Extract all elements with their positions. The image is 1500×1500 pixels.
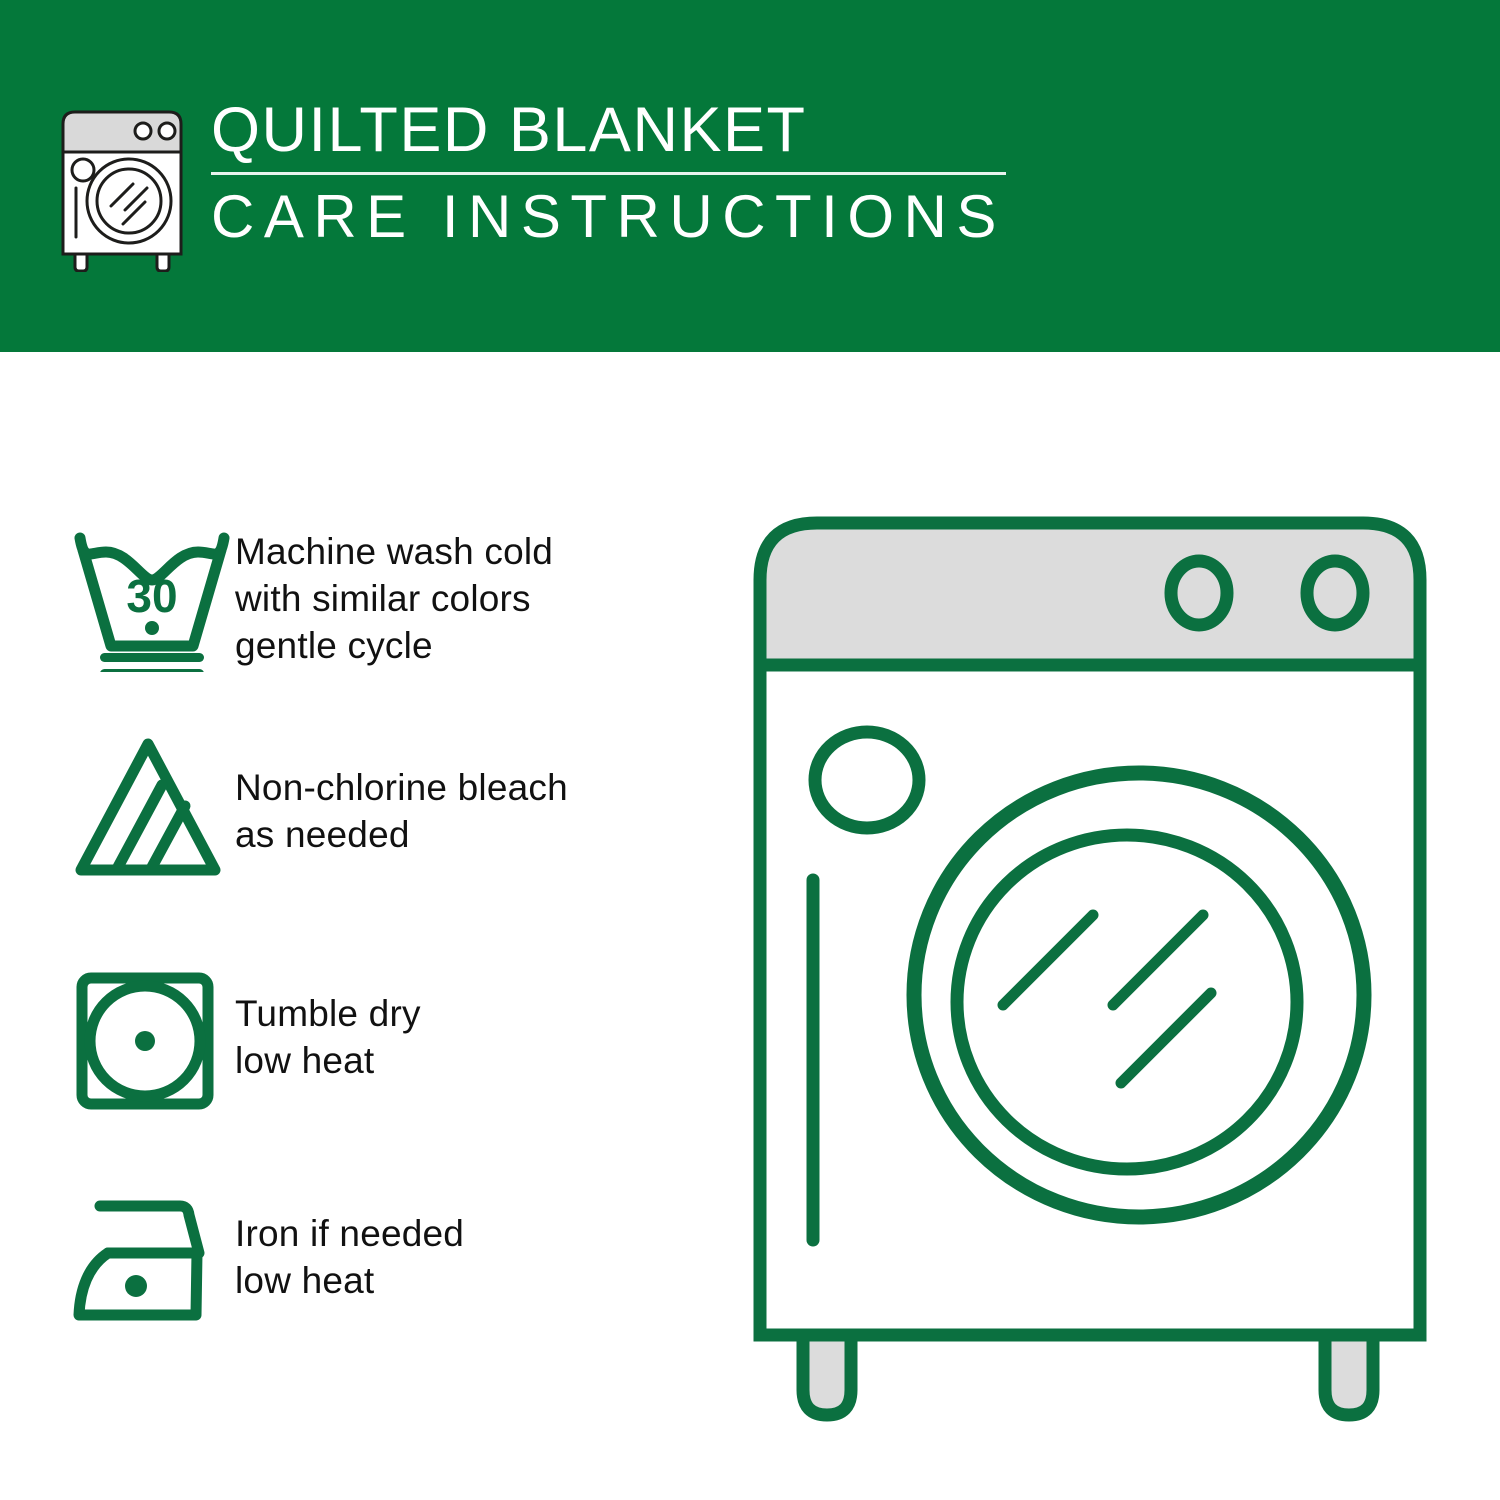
care-row-bleach: Non-chlorine bleach as needed	[70, 730, 730, 880]
title-block: QUILTED BLANKET CARE INSTRUCTIONS	[211, 96, 1006, 250]
care-text-tumble-dry: Tumble dry low heat	[235, 966, 421, 1084]
page-title: QUILTED BLANKET	[211, 96, 1006, 164]
care-text-machine-wash: Machine wash cold with similar colors ge…	[235, 522, 553, 669]
symbol-slot	[70, 966, 235, 1116]
front-load-washing-machine-illustration	[745, 505, 1455, 1435]
symbol-slot	[70, 730, 235, 880]
iron-low-heat-icon	[70, 1190, 235, 1340]
wash-temperature-label: 30	[126, 570, 177, 622]
title-divider	[211, 172, 1006, 175]
knob-left[interactable]	[1171, 561, 1227, 625]
bleach-triangle-icon	[70, 730, 235, 880]
care-line: Machine wash cold with similar colors ge…	[235, 528, 553, 669]
care-instructions-list: 30 Machine wash cold with similar colors…	[0, 352, 740, 1500]
care-line: Tumble dry low heat	[235, 990, 421, 1084]
care-row-tumble-dry: Tumble dry low heat	[70, 966, 730, 1116]
leg-right	[1325, 1335, 1373, 1415]
page-subtitle: CARE INSTRUCTIONS	[211, 184, 1006, 250]
symbol-slot	[70, 1190, 235, 1340]
leg-left	[803, 1335, 851, 1415]
dispenser-circle[interactable]	[815, 732, 919, 828]
header-banner: QUILTED BLANKET CARE INSTRUCTIONS	[0, 0, 1500, 352]
care-text-iron: Iron if needed low heat	[235, 1190, 464, 1304]
wash-tub-30-icon: 30	[70, 522, 235, 672]
header-content: QUILTED BLANKET CARE INSTRUCTIONS	[55, 96, 1006, 272]
knob-right[interactable]	[1307, 561, 1363, 625]
washing-machine-icon	[55, 104, 189, 272]
care-text-bleach: Non-chlorine bleach as needed	[235, 730, 568, 858]
machine-svg	[745, 505, 1455, 1435]
symbol-slot: 30	[70, 522, 235, 672]
care-row-machine-wash: 30 Machine wash cold with similar colors…	[70, 522, 730, 672]
tumble-dry-low-icon	[70, 966, 235, 1116]
care-line: Iron if needed low heat	[235, 1210, 464, 1304]
care-row-iron: Iron if needed low heat	[70, 1190, 730, 1340]
care-line: Non-chlorine bleach as needed	[235, 764, 568, 858]
